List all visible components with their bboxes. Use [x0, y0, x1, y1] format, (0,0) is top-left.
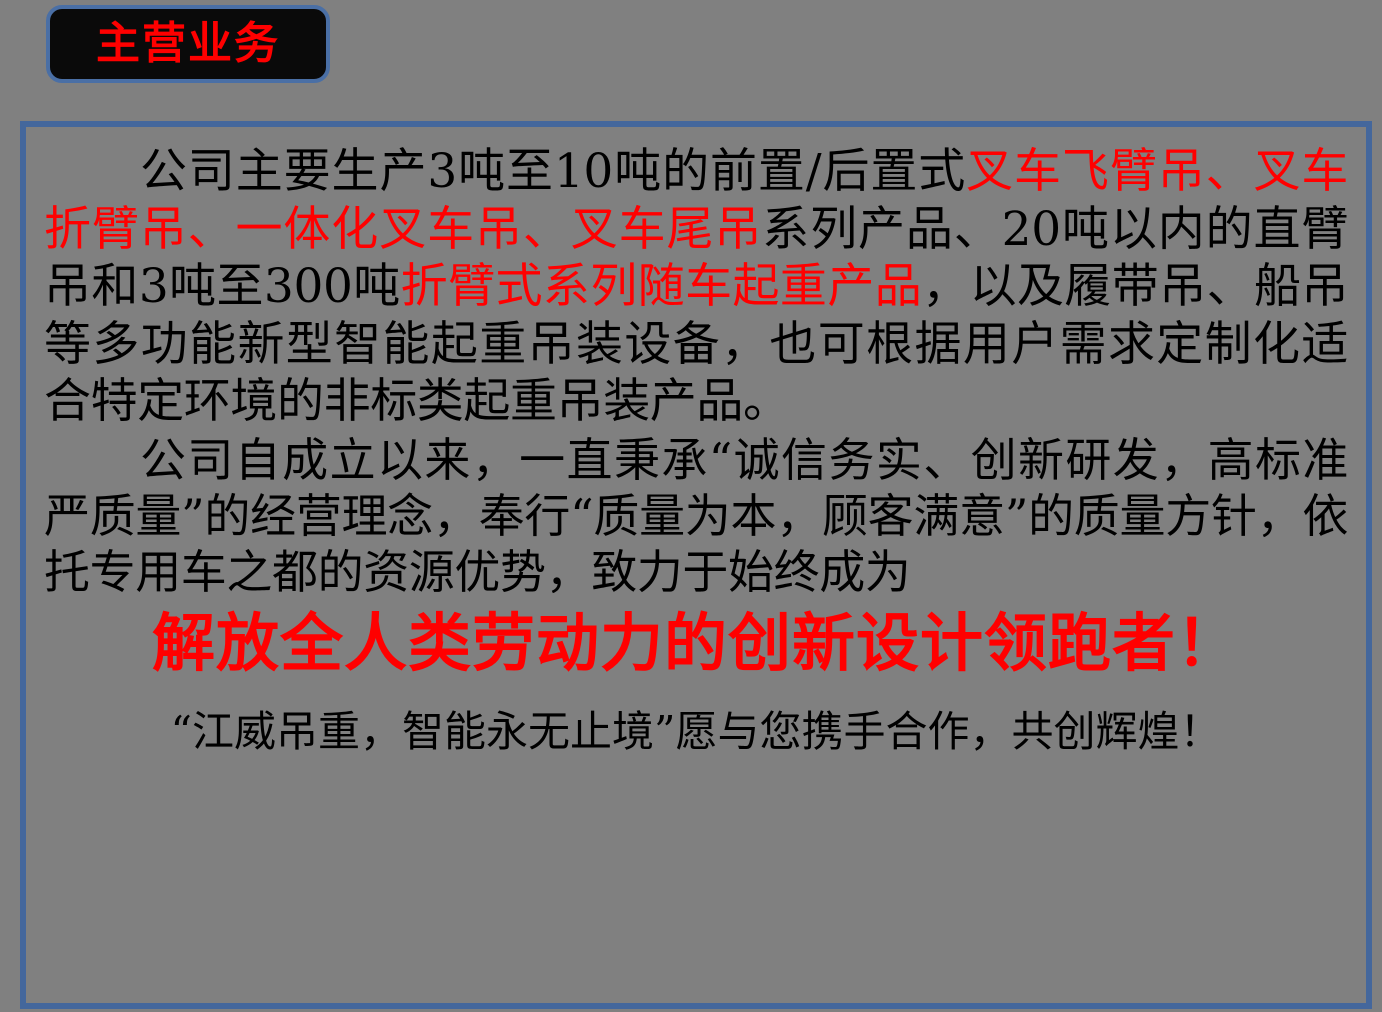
paragraph-products: 公司主要生产3吨至10吨的前置/后置式叉车飞臂吊、叉车折臂吊、一体化叉车吊、叉车…	[44, 143, 1348, 431]
slogan-text: 解放全人类劳动力的创新设计领跑者！	[44, 606, 1348, 680]
section-title-badge: 主营业务	[46, 5, 330, 83]
closing-text: “江威吊重，智能永无止境”愿与您携手合作，共创辉煌！	[44, 707, 1348, 757]
paragraph-philosophy: 公司自成立以来，一直秉承“诚信务实、创新研发，高标准严质量”的经营理念，奉行“质…	[44, 433, 1348, 601]
products-segment-4-highlight: 折臂式系列随车起重产品	[401, 259, 922, 314]
slide-canvas: 主营业务 公司主要生产3吨至10吨的前置/后置式叉车飞臂吊、叉车折臂吊、一体化叉…	[0, 0, 1382, 1012]
section-title-text: 主营业务	[96, 22, 280, 66]
content-panel: 公司主要生产3吨至10吨的前置/后置式叉车飞臂吊、叉车折臂吊、一体化叉车吊、叉车…	[20, 121, 1372, 1009]
products-segment-1: 公司主要生产3吨至10吨的前置/后置式	[140, 144, 966, 199]
